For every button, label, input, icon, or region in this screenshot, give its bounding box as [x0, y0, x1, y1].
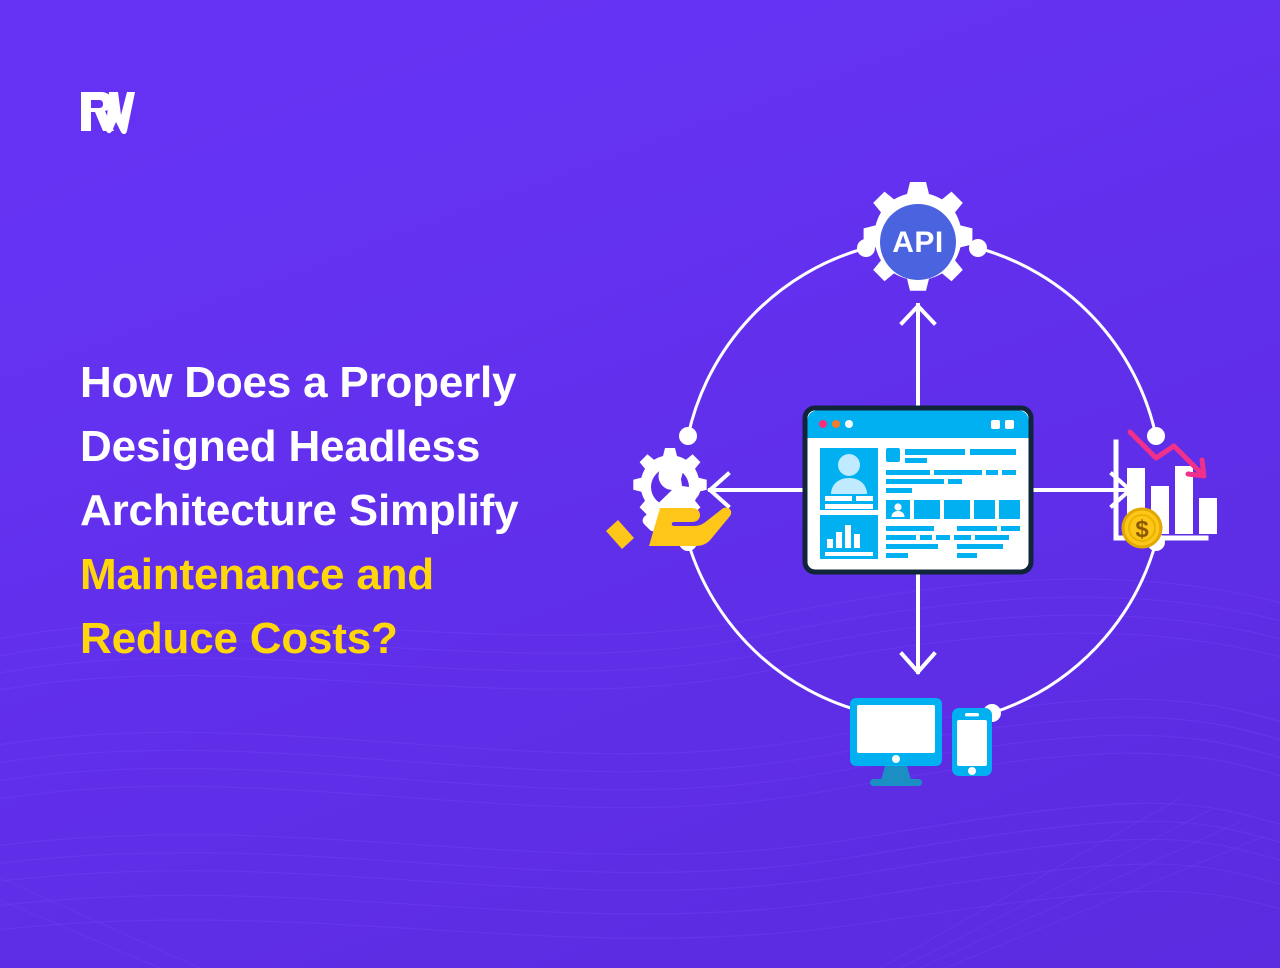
coin-symbol: $ — [1135, 516, 1149, 543]
browser-control-2 — [1005, 420, 1014, 429]
node-maintenance[interactable] — [606, 448, 731, 549]
architecture-diagram: API — [600, 160, 1260, 820]
arrow-center-to-devices — [902, 560, 934, 672]
rw-logo-icon — [80, 90, 138, 134]
bar-4 — [1199, 498, 1217, 534]
dollar-coin-icon: $ — [1123, 509, 1161, 547]
brand-logo[interactable] — [80, 90, 138, 134]
node-devices[interactable] — [850, 698, 992, 786]
browser-control-1 — [991, 420, 1000, 429]
browser-dot-3 — [845, 420, 853, 428]
browser-sidebar — [820, 448, 878, 559]
api-label: API — [892, 226, 944, 259]
headline-line-5: Reduce Costs? — [80, 607, 640, 671]
monitor-screen — [857, 705, 935, 753]
dot-cost-top — [1147, 427, 1165, 445]
poster-canvas: How Does a Properly Designed Headless Ar… — [0, 0, 1280, 968]
monitor-base — [870, 779, 922, 786]
phone-screen — [957, 720, 987, 766]
headline-line-4: Maintenance and — [80, 543, 640, 607]
dot-maintenance-top — [679, 427, 697, 445]
node-cost[interactable]: $ — [1116, 432, 1217, 547]
arrow-center-to-api — [902, 305, 934, 410]
browser-window-mockup[interactable] — [805, 408, 1031, 572]
phone-speaker — [965, 713, 979, 716]
bar-chart-decline-icon: $ — [1116, 432, 1217, 547]
browser-dot-2 — [832, 420, 840, 428]
diagram-svg: API — [600, 160, 1260, 820]
gear-wrench-hand-icon — [606, 448, 731, 549]
headline-line-1: How Does a Properly — [80, 351, 640, 415]
headline-line-3: Architecture Simplify — [80, 479, 640, 543]
page-title: How Does a Properly Designed Headless Ar… — [80, 351, 640, 671]
monitor-stand — [881, 766, 911, 780]
monitor-phone-icon — [850, 698, 992, 786]
monitor-power-dot — [892, 755, 900, 763]
browser-dot-1 — [819, 420, 827, 428]
node-api[interactable]: API — [864, 182, 973, 291]
phone-home-button — [968, 767, 976, 775]
headline-line-2: Designed Headless — [80, 415, 640, 479]
